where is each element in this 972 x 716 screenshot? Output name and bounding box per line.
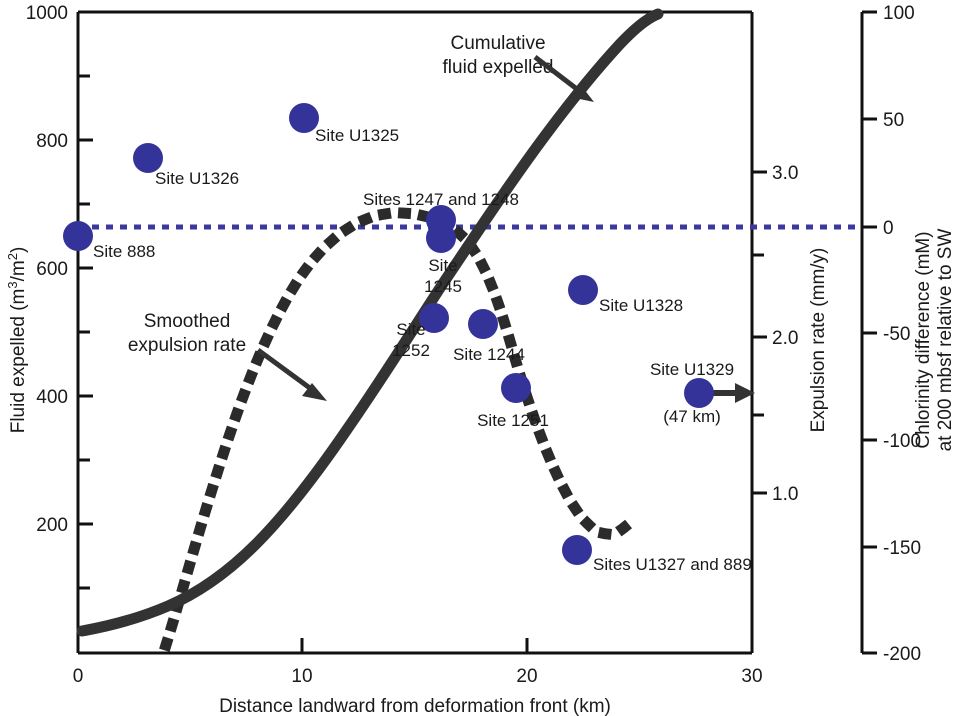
x-axis-title: Distance landward from deformation front… [219,696,611,716]
marker[interactable] [63,221,93,251]
svg-text:Fluid expelled (m3/m2): Fluid expelled (m3/m2) [5,247,30,434]
y-axis-title-main: Fluid expelled (m [8,289,29,434]
smoothed-annotation-line1: Smoothed [144,311,231,332]
fluid-expulsion-chart: 1000 800 600 400 200 Fluid expelled (m3/… [0,0,972,716]
svg-text:Expulsion rate (mm/y): Expulsion rate (mm/y) [808,248,829,433]
chlorinity-title-line2: at 200 mbsf relative to SW [935,229,956,452]
chlor-tick-0: 0 [883,218,894,239]
x-tick-20: 20 [516,666,537,687]
data-point-label-site-1252-line2: 1252 [392,341,430,360]
marker[interactable] [684,378,714,408]
marker[interactable] [562,535,592,565]
y-axis-title-end: ) [8,247,29,253]
data-point-label-site-1245-line2: 1245 [424,277,462,296]
cumulative-annotation-line1: Cumulative [450,33,545,54]
data-point-label-site-u1325: Site U1325 [315,126,399,145]
y-axis-title: Fluid expelled (m3/m2) [5,247,30,434]
x-tick-0: 0 [73,666,84,687]
chlor-tick-n50: -50 [883,324,910,345]
rate-tick-2: 2.0 [772,328,798,349]
marker[interactable] [568,275,598,305]
y-tick-200: 200 [36,515,68,536]
y-tick-600: 600 [36,259,68,280]
expulsion-rate-axis-title: Expulsion rate (mm/y) [808,248,829,433]
y-axis-title-sup-2: 2 [5,253,20,260]
chlorinity-title-line1: Chlorinity difference (mM) [913,231,934,448]
chlor-tick-n200: -200 [883,644,921,665]
rate-tick-3: 3.0 [772,163,798,184]
data-point-label-sites-u1327-889: Sites U1327 and 889 [593,555,752,574]
y-tick-800: 800 [36,131,68,152]
marker[interactable] [426,223,456,253]
y-tick-400: 400 [36,387,68,408]
chlorinity-axis-title: Chlorinity difference (mM) at 200 mbsf r… [913,229,956,452]
chlor-tick-100: 100 [883,3,915,24]
data-point-label-site-1252-line1: Site [396,320,425,339]
y-axis-title-sup-3: 3 [5,281,20,288]
chlor-tick-50: 50 [883,110,904,131]
y-axis-title-mid: /m [8,260,29,281]
x-tick-10: 10 [291,666,312,687]
data-point-label-site-u1329-note: (47 km) [663,407,721,426]
data-point-label-sites-1247-1248: Sites 1247 and 1248 [363,190,519,209]
x-tick-30: 30 [741,666,762,687]
y-tick-1000: 1000 [26,3,68,24]
data-point-label-site-1244: Site 1244 [453,345,525,364]
marker[interactable] [468,309,498,339]
chlor-tick-n150: -150 [883,538,921,559]
data-point-label-site-u1329: Site U1329 [650,360,734,379]
rate-tick-1: 1.0 [772,484,798,505]
data-point-label-site-u1326: Site U1326 [155,169,239,188]
smoothed-annotation-line2: expulsion rate [128,335,246,356]
marker[interactable] [501,373,531,403]
data-point-label-site-1245-line1: Site [428,256,457,275]
data-point-label-site-888: Site 888 [93,242,155,261]
data-point-label-site-u1328: Site U1328 [599,296,683,315]
data-point-label-site-1251: Site 1251 [477,411,549,430]
